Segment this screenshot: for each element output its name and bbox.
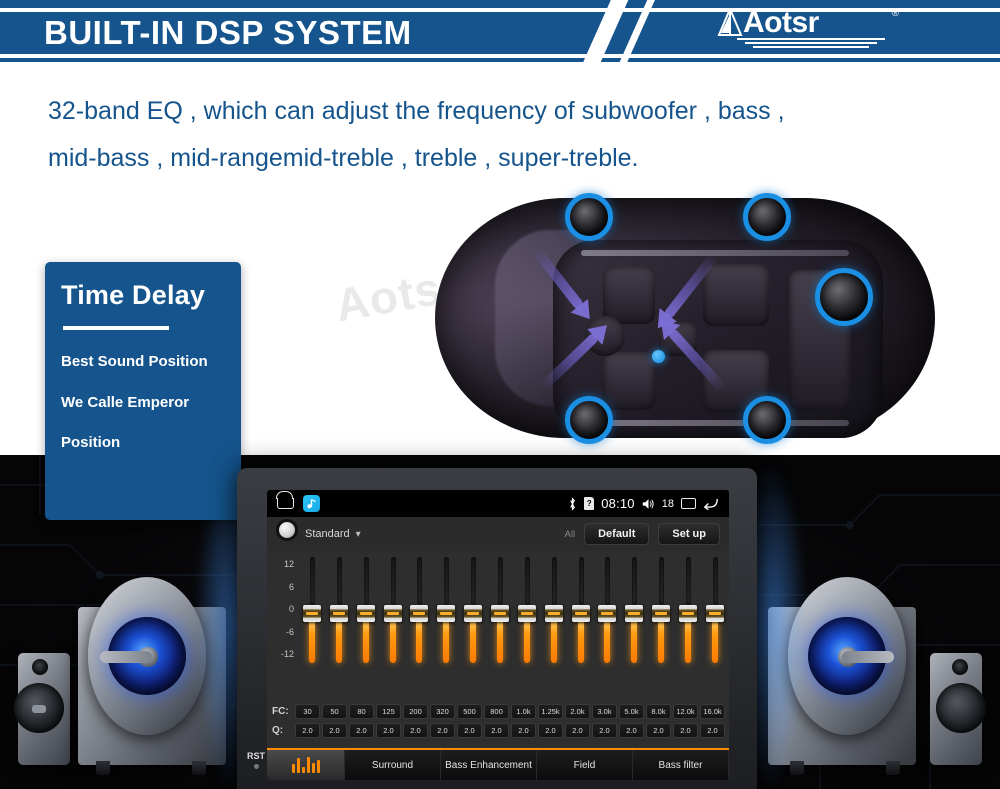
- seat-front-left: [603, 266, 655, 324]
- sd-card-icon: ?: [584, 497, 594, 510]
- fc-cell-320[interactable]: 320: [430, 704, 455, 719]
- eq-tick-1: 6: [269, 582, 294, 592]
- fc-cell-125[interactable]: 125: [376, 704, 401, 719]
- fc-cell-200[interactable]: 200: [403, 704, 428, 719]
- slider-track-upper: [310, 557, 315, 605]
- side-subwoofer: [815, 268, 873, 326]
- fc-cell-80[interactable]: 80: [349, 704, 374, 719]
- slider-track-lower: [604, 619, 610, 663]
- eq-slider-1.25k[interactable]: [543, 555, 565, 665]
- tab-bass-filter[interactable]: Bass filter: [633, 750, 729, 780]
- q-cell-500[interactable]: 2.0: [457, 723, 482, 738]
- slider-track-lower: [390, 619, 396, 663]
- slider-track-lower: [551, 619, 557, 663]
- slider-knob[interactable]: [545, 605, 563, 622]
- front-left-speaker: [565, 193, 613, 241]
- logo-sail-icon: [717, 8, 743, 38]
- slider-knob[interactable]: [384, 605, 402, 622]
- time-delay-divider: [63, 326, 169, 330]
- slider-track-lower: [658, 619, 664, 663]
- fc-cell-8.0k[interactable]: 8.0k: [646, 704, 671, 719]
- setup-button[interactable]: Set up: [658, 523, 720, 545]
- brand-trademark: ®: [892, 8, 899, 19]
- q-cell-8.0k[interactable]: 2.0: [646, 723, 671, 738]
- eq-slider-16.0k[interactable]: [704, 555, 726, 665]
- tab-bass-enhancement[interactable]: Bass Enhancement: [441, 750, 537, 780]
- default-button[interactable]: Default: [584, 523, 649, 545]
- eq-slider-800[interactable]: [489, 555, 511, 665]
- tab-surround[interactable]: Surround: [345, 750, 441, 780]
- time-delay-line-3: Position: [61, 435, 225, 452]
- slider-track-upper: [713, 557, 718, 605]
- q-cell-200[interactable]: 2.0: [403, 723, 428, 738]
- fc-cell-3.0k[interactable]: 3.0k: [592, 704, 617, 719]
- fc-cell-30[interactable]: 30: [295, 704, 320, 719]
- tab-label: Bass Enhancement: [445, 760, 532, 771]
- roof-rail-bottom: [581, 420, 849, 426]
- tab-label: Field: [574, 760, 596, 771]
- seat-front-right: [603, 352, 655, 410]
- q-cell-320[interactable]: 2.0: [430, 723, 455, 738]
- brand-name: Aotsr: [743, 6, 819, 40]
- eq-slider-50[interactable]: [328, 555, 350, 665]
- reset-hole-icon: [254, 764, 259, 769]
- eq-tick-4: -12: [269, 649, 294, 659]
- tab-field[interactable]: Field: [537, 750, 633, 780]
- back-icon[interactable]: [703, 497, 719, 510]
- slider-track-upper: [471, 557, 476, 605]
- slider-track-lower: [578, 619, 584, 663]
- equalizer-panel: 12 6 0 -6 -12 FC: 3050801252003205008001…: [267, 551, 729, 748]
- time-delay-line-2: We Calle Emperor: [61, 395, 225, 412]
- time-delay-title: Time Delay: [61, 280, 225, 311]
- q-cell-1.0k[interactable]: 2.0: [511, 723, 536, 738]
- slider-track-upper: [417, 557, 422, 605]
- q-cell-5.0k[interactable]: 2.0: [619, 723, 644, 738]
- best-sound-position-dot: [652, 350, 665, 363]
- time-delay-card: Time Delay Best Sound Position We Calle …: [45, 262, 241, 520]
- rear-right-speaker: [743, 396, 791, 444]
- slider-track-lower: [416, 619, 422, 663]
- slider-track-upper: [337, 557, 342, 605]
- q-cell-80[interactable]: 2.0: [349, 723, 374, 738]
- fc-row: FC: 3050801252003205008001.0k1.25k2.0k3.…: [270, 704, 726, 719]
- fc-cell-5.0k[interactable]: 5.0k: [619, 704, 644, 719]
- q-row: Q: 2.02.02.02.02.02.02.02.02.02.02.02.02…: [270, 723, 726, 738]
- chevron-down-icon[interactable]: ▾: [356, 529, 361, 540]
- slider-knob[interactable]: [652, 605, 670, 622]
- eq-slider-3.0k[interactable]: [596, 555, 618, 665]
- slider-track-lower: [443, 619, 449, 663]
- slider-knob[interactable]: [410, 605, 428, 622]
- fc-cell-1.25k[interactable]: 1.25k: [538, 704, 563, 719]
- left-satellite-tweeter: [32, 659, 48, 675]
- eq-value-rows: FC: 3050801252003205008001.0k1.25k2.0k3.…: [270, 704, 726, 742]
- q-cell-50[interactable]: 2.0: [322, 723, 347, 738]
- fc-cell-12.0k[interactable]: 12.0k: [673, 704, 698, 719]
- android-status-bar: ? 08:10 18: [267, 490, 729, 517]
- eq-slider-200[interactable]: [408, 555, 430, 665]
- recents-icon[interactable]: [681, 498, 696, 509]
- slider-track-lower: [309, 619, 315, 663]
- page-header: BUILT-IN DSP SYSTEM Aotsr ®: [0, 0, 1000, 62]
- fc-cell-16.0k[interactable]: 16.0k: [700, 704, 725, 719]
- slider-track-upper: [686, 557, 691, 605]
- tab-label: Bass filter: [659, 760, 703, 771]
- slider-track-upper: [364, 557, 369, 605]
- eq-slider-80[interactable]: [355, 555, 377, 665]
- fc-cell-500[interactable]: 500: [457, 704, 482, 719]
- tab-label: Surround: [372, 760, 413, 771]
- right-satellite-tweeter: [952, 659, 968, 675]
- description-line-1: 32-band EQ , which can adjust the freque…: [48, 88, 988, 135]
- car-sound-diagram: Aotsr: [395, 178, 965, 458]
- preset-knob[interactable]: [276, 519, 298, 541]
- clock-time: 08:10: [601, 496, 635, 511]
- q-cells: 2.02.02.02.02.02.02.02.02.02.02.02.02.02…: [294, 723, 726, 738]
- logo-underline-lines: [737, 38, 885, 52]
- eq-tick-3: -6: [269, 627, 294, 637]
- rear-left-speaker: [743, 193, 791, 241]
- preset-name[interactable]: Standard: [305, 528, 350, 540]
- eq-toolbar: Standard ▾ All Default Set up: [267, 517, 729, 551]
- page-root: BUILT-IN DSP SYSTEM Aotsr ® 32-band EQ ,…: [0, 0, 1000, 789]
- eq-slider-320[interactable]: [435, 555, 457, 665]
- brand-logo: Aotsr ®: [725, 6, 905, 54]
- slider-track-upper: [444, 557, 449, 605]
- slider-knob[interactable]: [518, 605, 536, 622]
- eq-slider-8.0k[interactable]: [650, 555, 672, 665]
- slider-knob[interactable]: [357, 605, 375, 622]
- fc-cell-50[interactable]: 50: [322, 704, 347, 719]
- fc-row-label: FC:: [270, 706, 294, 717]
- music-note-icon: [306, 498, 317, 509]
- dsp-tab-bar: SurroundBass EnhancementFieldBass filter: [267, 748, 729, 780]
- slider-knob[interactable]: [572, 605, 590, 622]
- slider-track-upper: [632, 557, 637, 605]
- q-cell-30[interactable]: 2.0: [295, 723, 320, 738]
- right-satellite-driver: [936, 683, 986, 733]
- slider-knob[interactable]: [491, 605, 509, 622]
- slider-track-upper: [552, 557, 557, 605]
- eq-tick-2: 0: [269, 604, 294, 614]
- slider-track-lower: [497, 619, 503, 663]
- eq-slider-5.0k[interactable]: [623, 555, 645, 665]
- slider-knob[interactable]: [706, 605, 724, 622]
- slider-track-lower: [685, 619, 691, 663]
- head-unit-screen: ? 08:10 18 S: [267, 490, 729, 780]
- q-cell-1.25k[interactable]: 2.0: [538, 723, 563, 738]
- fc-cells: 3050801252003205008001.0k1.25k2.0k3.0k5.…: [294, 704, 726, 719]
- slider-track-lower: [470, 619, 476, 663]
- description-line-2: mid-bass , mid-rangemid-treble , treble …: [48, 135, 988, 182]
- volume-icon: [642, 498, 655, 510]
- eq-slider-125[interactable]: [382, 555, 404, 665]
- q-cell-800[interactable]: 2.0: [484, 723, 509, 738]
- eq-db-scale: 12 6 0 -6 -12: [269, 559, 299, 659]
- slider-track-lower: [336, 619, 342, 663]
- slider-knob[interactable]: [679, 605, 697, 622]
- app-icon[interactable]: [303, 495, 320, 512]
- slider-knob[interactable]: [464, 605, 482, 622]
- q-cell-12.0k[interactable]: 2.0: [673, 723, 698, 738]
- slider-track-upper: [391, 557, 396, 605]
- slider-track-upper: [498, 557, 503, 605]
- reset-label: RST: [247, 751, 265, 761]
- eq-slider-2.0k[interactable]: [570, 555, 592, 665]
- volume-level: 18: [662, 498, 674, 510]
- slider-knob[interactable]: [303, 605, 321, 622]
- fc-cell-800[interactable]: 800: [484, 704, 509, 719]
- eq-slider-12.0k[interactable]: [677, 555, 699, 665]
- q-cell-125[interactable]: 2.0: [376, 723, 401, 738]
- bluetooth-icon: [568, 497, 577, 511]
- slider-knob[interactable]: [598, 605, 616, 622]
- slider-track-lower: [363, 619, 369, 663]
- slider-knob[interactable]: [330, 605, 348, 622]
- time-delay-line-1: Best Sound Position: [61, 354, 225, 371]
- fc-cell-2.0k[interactable]: 2.0k: [565, 704, 590, 719]
- eq-slider-30[interactable]: [301, 555, 323, 665]
- q-cell-2.0k[interactable]: 2.0: [565, 723, 590, 738]
- eq-slider-500[interactable]: [462, 555, 484, 665]
- page-title: BUILT-IN DSP SYSTEM: [44, 14, 412, 52]
- q-row-label: Q:: [270, 725, 294, 736]
- equalizer-icon: [292, 757, 320, 773]
- slider-track-lower: [631, 619, 637, 663]
- slider-track-upper: [525, 557, 530, 605]
- eq-slider-group: [301, 555, 726, 665]
- eq-slider-1.0k[interactable]: [516, 555, 538, 665]
- all-label[interactable]: All: [565, 529, 576, 540]
- home-icon[interactable]: [277, 498, 294, 509]
- fc-cell-1.0k[interactable]: 1.0k: [511, 704, 536, 719]
- description-text: 32-band EQ , which can adjust the freque…: [48, 88, 988, 182]
- front-right-speaker: [565, 396, 613, 444]
- slider-track-lower: [712, 619, 718, 663]
- eq-tick-0: 12: [269, 559, 294, 569]
- header-rule-bottom: [0, 54, 1000, 58]
- q-cell-3.0k[interactable]: 2.0: [592, 723, 617, 738]
- slider-knob[interactable]: [625, 605, 643, 622]
- slider-track-upper: [659, 557, 664, 605]
- q-cell-16.0k[interactable]: 2.0: [700, 723, 725, 738]
- reset-button[interactable]: RST: [245, 751, 267, 769]
- car-head-unit: RST ?: [237, 468, 757, 789]
- slider-track-upper: [605, 557, 610, 605]
- tab-equalizer[interactable]: [267, 750, 345, 780]
- slider-track-lower: [524, 619, 530, 663]
- slider-track-upper: [579, 557, 584, 605]
- slider-knob[interactable]: [437, 605, 455, 622]
